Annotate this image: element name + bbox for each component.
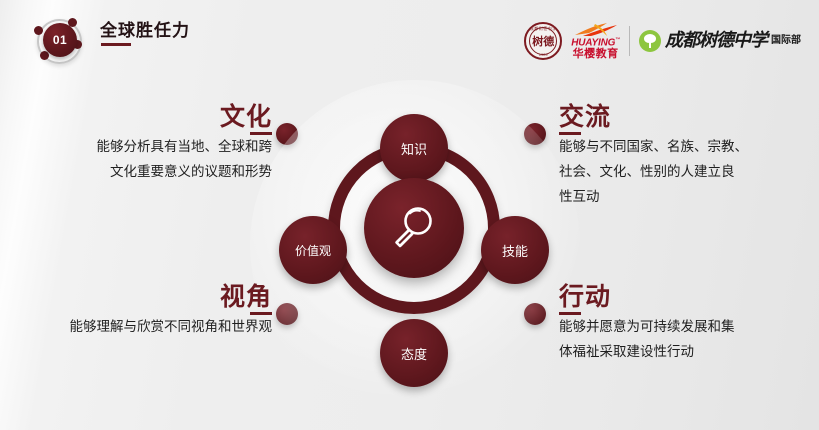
school-name-text: 成都树德中学 [665,32,767,50]
diagram-center-hub [364,178,464,278]
seal-year-text: 1929 [526,52,560,57]
shude-school-logo: 成都树德中学 国际部 [639,30,801,52]
block-exchange-line-1: 能够与不同国家、名族、宗教、 [559,135,809,160]
competency-diagram: 知识 技能 态度 价值观 [302,116,526,340]
badge-number: 01 [43,23,77,57]
tree-trunk-shape [649,41,651,48]
block-vision-heading: 视角 [10,284,272,310]
block-action-line-1: 能够并愿意为可持续发展和集 [559,315,809,340]
block-vision: 视角 能够理解与欣赏不同视角和世界观 [10,284,272,340]
page-title: 全球胜任力 [100,16,190,41]
block-exchange-heading: 交流 [559,104,809,130]
block-culture-line-1: 能够分析具有当地、全球和跨 [10,135,272,160]
seal-arc-text: 成都树德中学 [529,26,557,36]
bullet-dot-culture [276,123,298,145]
swoosh-icon [573,22,619,37]
block-action: 行动 能够并愿意为可持续发展和集 体福祉采取建设性行动 [559,284,809,365]
bullet-dot-exchange [524,123,546,145]
logo-divider [629,26,630,56]
magnifier-icon [387,201,441,255]
diagram-node-values[interactable]: 价值观 [279,216,347,284]
block-culture-heading: 文化 [10,104,272,130]
section-badge: 01 [28,12,88,66]
slide-canvas: 01 全球胜任力 成都树德中学 树德 1929 HUAYING™ 华樱教育 成都… [0,0,819,430]
block-exchange: 交流 能够与不同国家、名族、宗教、 社会、文化、性别的人建立良 性互动 [559,104,809,210]
bullet-dot-vision [276,303,298,325]
huaying-cn-text: 华樱教育 [573,49,619,60]
title-underline [101,43,131,46]
school-department-text: 国际部 [771,36,801,46]
bullet-dot-action [524,303,546,325]
badge-dot-top-left [34,26,43,35]
block-vision-line-1: 能够理解与欣赏不同视角和世界观 [10,315,272,340]
diagram-node-skills[interactable]: 技能 [481,216,549,284]
tree-icon [639,30,661,52]
huaying-en-text: HUAYING™ [571,38,620,48]
block-culture-line-2: 文化重要意义的议题和形势 [10,160,272,185]
block-action-heading: 行动 [559,284,809,310]
diagram-node-knowledge[interactable]: 知识 [380,114,448,182]
block-exchange-line-2: 社会、文化、性别的人建立良 [559,160,809,185]
logo-group: 成都树德中学 树德 1929 HUAYING™ 华樱教育 成都树德中学 国际部 [524,22,801,60]
school-seal-icon: 成都树德中学 树德 1929 [524,22,562,60]
block-exchange-line-3: 性互动 [559,185,809,210]
huaying-logo: HUAYING™ 华樱教育 [571,22,620,60]
block-action-line-2: 体福祉采取建设性行动 [559,340,809,365]
diagram-node-attitude[interactable]: 态度 [380,319,448,387]
block-culture: 文化 能够分析具有当地、全球和跨 文化重要意义的议题和形势 [10,104,272,185]
